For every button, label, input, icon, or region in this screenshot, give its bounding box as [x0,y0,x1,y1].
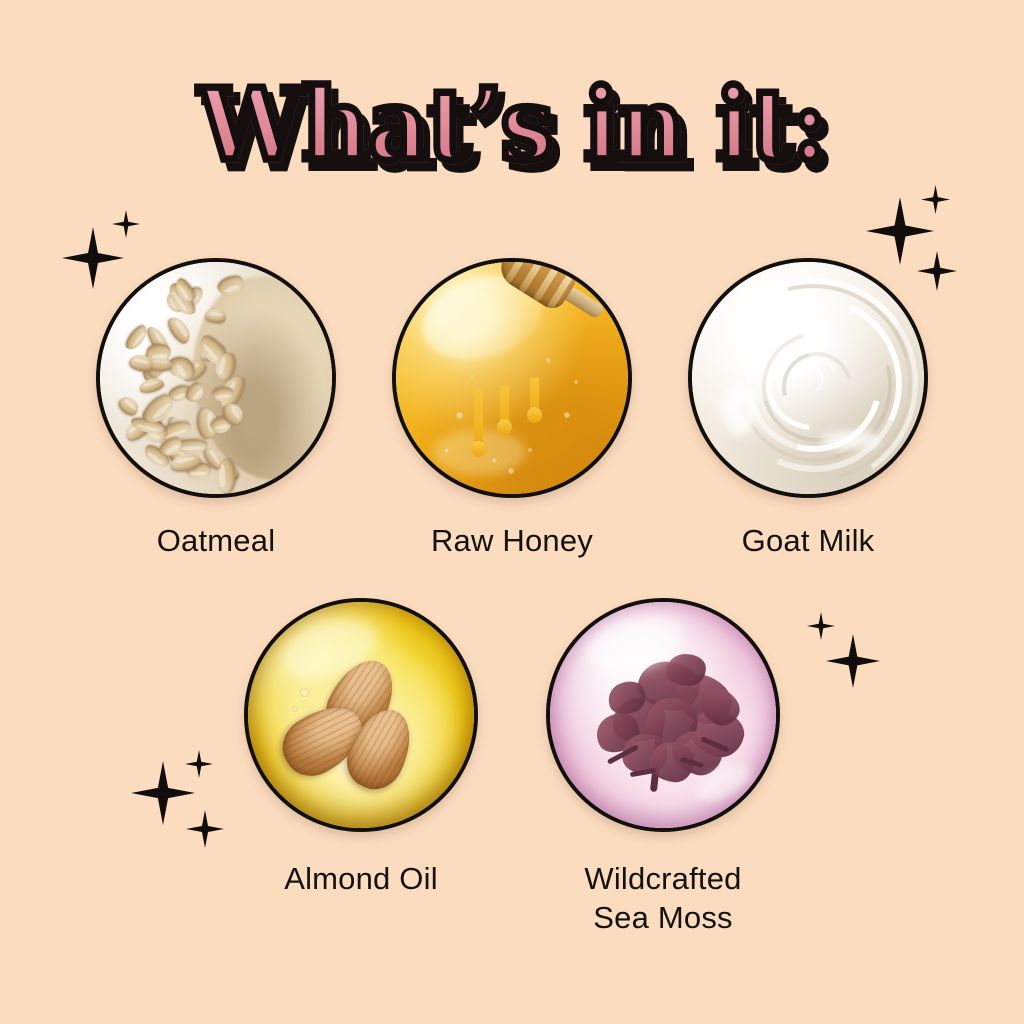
goat-milk-disc [688,258,928,498]
sea-moss-disc [546,598,780,832]
oil-bubble-2 [292,706,298,712]
page-title-text: What’s in it: [198,75,825,174]
ingredient-label-sea-moss: Wildcrafted Sea Moss [584,860,741,938]
honey-bubble-1 [456,412,463,419]
honey-bubble-4 [564,412,570,418]
honey-bubble-8 [574,380,578,384]
oatmeal-disc [96,258,336,498]
ingredient-label-almond-oil: Almond Oil [284,860,438,899]
ingredient-label-oatmeal: Oatmeal [157,522,276,561]
honey-bubble-5 [492,458,497,463]
ingredient-card-goat-milk[interactable]: Goat Milk [685,258,931,561]
honey-disc [392,258,632,498]
milk-highlight-3 [722,382,756,436]
honey-drip-3 [530,378,539,412]
milk-swirl-pattern [692,262,924,494]
sparkle-top-left-small-icon [112,210,140,238]
ingredient-row-1: Oatmeal [0,258,1024,561]
milk-highlight-1 [732,296,804,326]
ingredient-label-goat-milk: Goat Milk [742,522,875,561]
ingredient-card-oatmeal[interactable]: Oatmeal [93,258,339,561]
ingredient-row-2: Almond Oil Wildcrafted Sea Moss [0,598,1024,938]
ingredient-card-raw-honey[interactable]: Raw Honey [389,258,635,561]
honey-bubble-3 [546,358,551,363]
honey-drip-2 [500,386,509,424]
sparkle-top-right-small-icon [921,185,950,214]
honey-drip-1 [474,390,483,446]
ingredient-card-almond-oil[interactable]: Almond Oil [238,598,484,938]
poster-canvas: What’s in it: Oatmeal [0,0,1024,1024]
honey-bubble-6 [528,448,532,452]
honey-bubble-9 [508,468,514,474]
oil-bubble-1 [300,688,309,697]
page-title: What’s in it: [0,78,1024,171]
sparkle-top-right-large-icon [866,197,934,265]
ingredient-label-raw-honey: Raw Honey [431,522,593,561]
honey-bubble-2 [444,448,449,453]
honey-bubble-7 [470,374,474,378]
milk-highlight-2 [820,430,880,450]
ingredient-card-sea-moss[interactable]: Wildcrafted Sea Moss [540,598,786,938]
almond-oil-disc [244,598,478,832]
